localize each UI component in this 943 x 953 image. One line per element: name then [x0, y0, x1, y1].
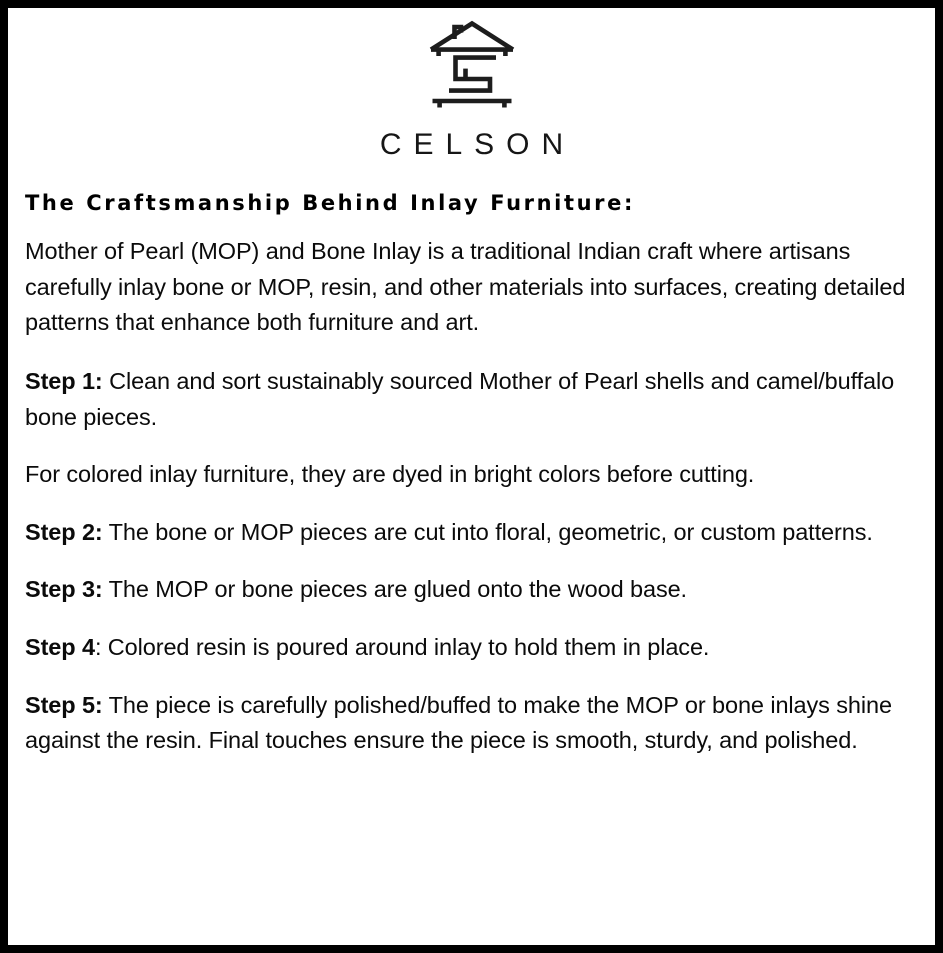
step-paragraph-3: Step 2: The bone or MOP pieces are cut i… — [25, 515, 920, 551]
brand-header: CELSON — [17, 16, 926, 160]
intro-paragraph: Mother of Pearl (MOP) and Bone Inlay is … — [25, 234, 920, 341]
step-text-5: : Colored resin is poured around inlay t… — [95, 634, 709, 660]
article-body: Mother of Pearl (MOP) and Bone Inlay is … — [17, 234, 926, 759]
step-paragraph-5: Step 4: Colored resin is poured around i… — [25, 630, 920, 666]
house-with-s-monogram-logo-icon — [424, 18, 520, 116]
step-paragraph-6: Step 5: The piece is carefully polished/… — [25, 688, 920, 759]
poster-inner: CELSON The Craftsmanship Behind Inlay Fu… — [8, 8, 935, 945]
step-text-6: The piece is carefully polished/buffed t… — [25, 692, 892, 754]
step-label-6: Step 5: — [25, 692, 103, 718]
step-text-4: The MOP or bone pieces are glued onto th… — [103, 576, 687, 602]
page-title: The Craftsmanship Behind Inlay Furniture… — [25, 191, 926, 216]
step-label-3: Step 2: — [25, 519, 103, 545]
step-paragraph-2: For colored inlay furniture, they are dy… — [25, 457, 920, 493]
step-text-1: Clean and sort sustainably sourced Mothe… — [25, 368, 894, 430]
step-text-3: The bone or MOP pieces are cut into flor… — [103, 519, 873, 545]
step-paragraph-1: Step 1: Clean and sort sustainably sourc… — [25, 364, 920, 435]
step-text-2: For colored inlay furniture, they are dy… — [25, 461, 754, 487]
brand-name: CELSON — [17, 130, 926, 160]
step-label-1: Step 1: — [25, 368, 103, 394]
step-label-4: Step 3: — [25, 576, 103, 602]
poster-card: CELSON The Craftsmanship Behind Inlay Fu… — [0, 0, 943, 953]
step-label-5: Step 4 — [25, 634, 95, 660]
step-paragraph-4: Step 3: The MOP or bone pieces are glued… — [25, 572, 920, 608]
